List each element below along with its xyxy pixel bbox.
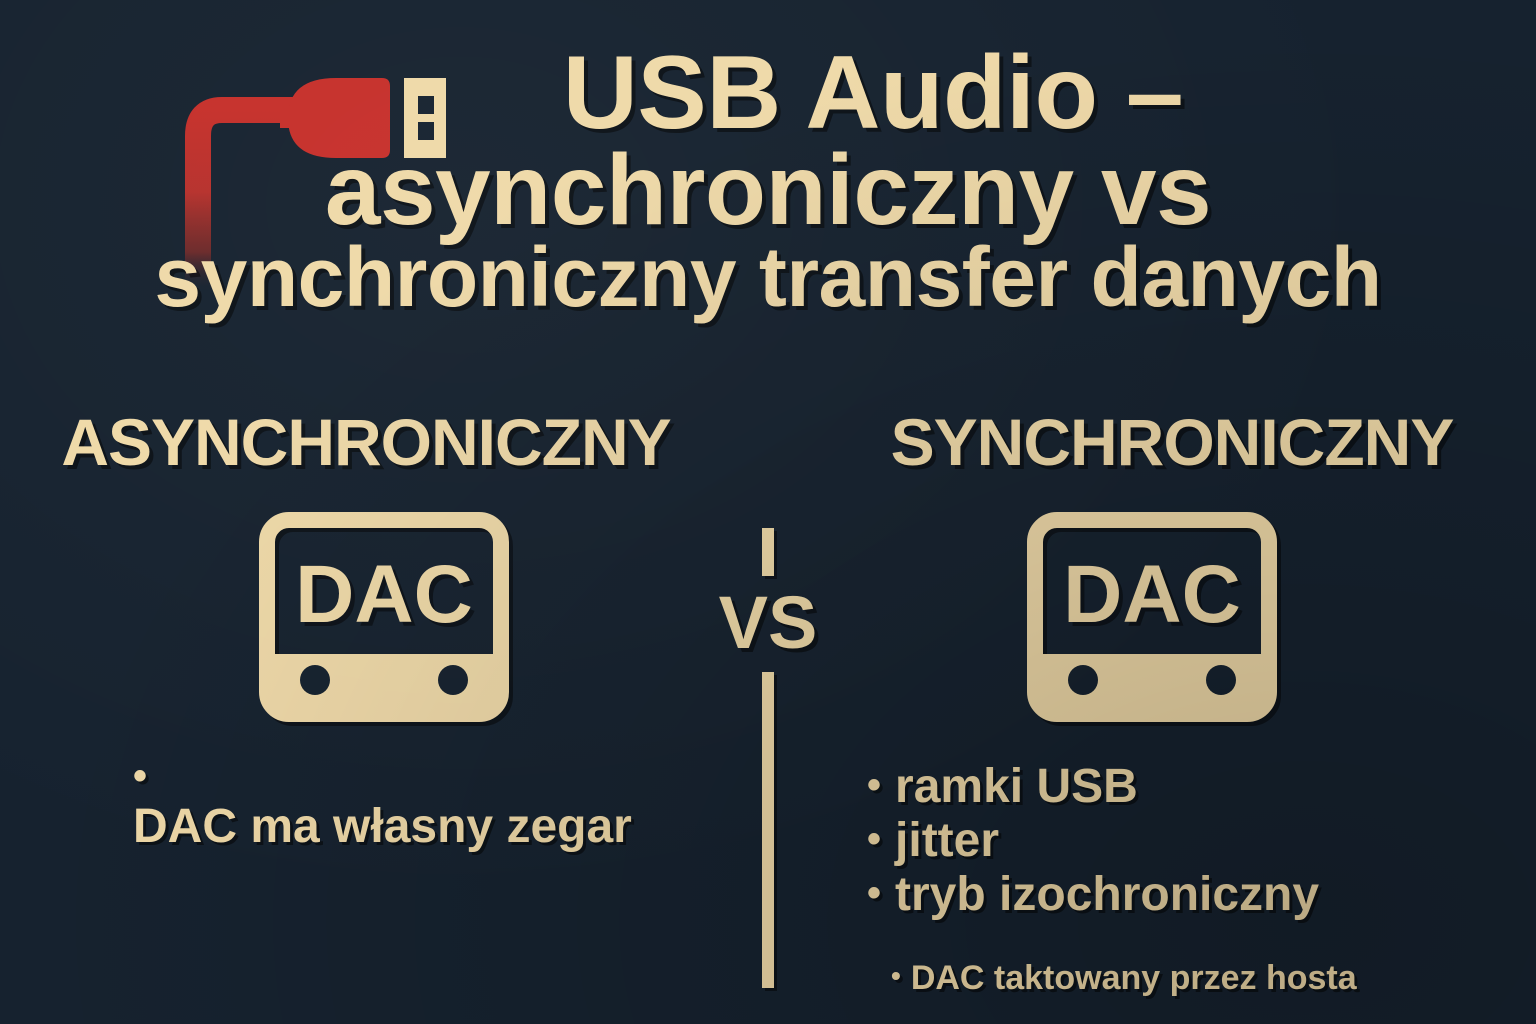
list-item: • ramki USB bbox=[867, 760, 1467, 814]
dac-icon-right: DAC bbox=[1027, 512, 1277, 722]
bullet-dot-icon: • bbox=[867, 819, 881, 859]
divider-segment-top bbox=[762, 528, 774, 576]
dac-device-svg: DAC bbox=[259, 512, 509, 722]
infographic-canvas: USB Audio – asynchroniczny vs synchronic… bbox=[0, 0, 1536, 1024]
page-title: USB Audio – asynchroniczny vs synchronic… bbox=[0, 44, 1536, 318]
title-line-2: asynchroniczny vs bbox=[0, 143, 1536, 238]
title-line-3: synchroniczny transfer danych bbox=[0, 238, 1536, 318]
dac-icon-left: DAC bbox=[259, 512, 509, 722]
bullet-list-left: • DAC ma własny zegar bbox=[115, 760, 653, 854]
bullet-dot-icon: • bbox=[133, 756, 147, 796]
column-headers: ASYNCHRONICZNY SYNCHRONICZNY bbox=[0, 404, 1536, 480]
column-synchroniczny: DAC • ramki USB • jitter • tryb izochron… bbox=[768, 512, 1536, 1012]
header-asynchroniczny: ASYNCHRONICZNY bbox=[0, 404, 750, 480]
sub-bullet-text: DAC taktowany przez hosta bbox=[911, 959, 1357, 997]
vs-label: VS bbox=[719, 576, 818, 672]
sub-bullet-list-right: • DAC taktowany przez hosta bbox=[813, 959, 1491, 997]
bullet-dot-icon: • bbox=[891, 962, 901, 990]
list-item: • jitter bbox=[867, 814, 1467, 868]
bullet-dot-icon: • bbox=[867, 765, 881, 805]
dac-label-right: DAC bbox=[1063, 549, 1241, 640]
dac-device-svg: DAC bbox=[1027, 512, 1277, 722]
bullet-text: jitter bbox=[895, 814, 999, 868]
bullet-text: tryb izochroniczny bbox=[895, 868, 1319, 922]
list-item: • DAC ma własny zegar bbox=[133, 760, 653, 854]
bullet-list-right: • ramki USB • jitter • tryb izochroniczn… bbox=[837, 760, 1467, 921]
vs-divider: VS bbox=[708, 528, 828, 988]
header-synchroniczny: SYNCHRONICZNY bbox=[788, 404, 1536, 480]
bullet-text: DAC ma własny zegar bbox=[133, 800, 632, 854]
title-line-1: USB Audio – bbox=[0, 44, 1536, 143]
list-item: • DAC taktowany przez hosta bbox=[891, 959, 1491, 997]
dac-label-left: DAC bbox=[295, 549, 473, 640]
column-asynchroniczny: DAC • DAC ma własny zegar bbox=[0, 512, 768, 1012]
list-item: • tryb izochroniczny bbox=[867, 868, 1467, 922]
bullet-dot-icon: • bbox=[867, 873, 881, 913]
bullet-text: ramki USB bbox=[895, 760, 1138, 814]
divider-segment-bottom bbox=[762, 672, 774, 988]
